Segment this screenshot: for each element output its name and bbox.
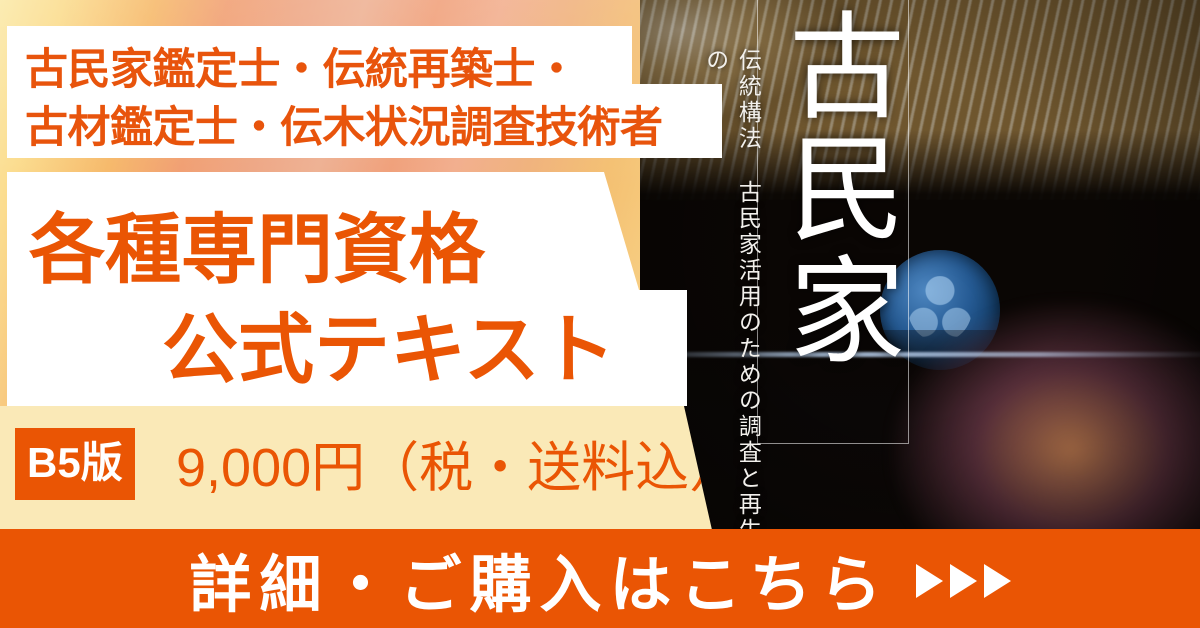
cta-bar[interactable]: 詳細・ご購入はこちら bbox=[0, 529, 1200, 628]
qualifications-line-1: 古民家鑑定士・伝統再築士・ bbox=[25, 35, 578, 97]
triangle-right-icon bbox=[984, 564, 1011, 598]
headline-card: 各種専門資格 公式テキスト bbox=[7, 172, 687, 406]
book-title: 古民家 bbox=[763, 6, 903, 372]
cta-label: 詳細・ご購入はこちら bbox=[189, 534, 889, 624]
headline-line-1: 各種専門資格 bbox=[29, 188, 485, 298]
cta-arrows bbox=[916, 564, 1011, 598]
qualifications-line-2: 古材鑑定士・伝木状況調査技術者 bbox=[25, 93, 663, 155]
book-cover-photo: 古民家 伝統構法 古民家活用のための調査と再生の bbox=[640, 0, 1200, 540]
price-band: B5版 9,000円（税・送料込） bbox=[0, 406, 740, 530]
headline-line-2: 公式テキスト bbox=[162, 288, 616, 398]
triangle-right-icon bbox=[916, 564, 943, 598]
promo-banner: 古民家 伝統構法 古民家活用のための調査と再生の 古民家鑑定士・伝統再築士・ 古… bbox=[0, 0, 1200, 628]
triangle-right-icon bbox=[950, 564, 977, 598]
price-label: 9,000円（税・送料込） bbox=[176, 431, 743, 495]
qualifications-card: 古民家鑑定士・伝統再築士・ 古材鑑定士・伝木状況調査技術者 bbox=[7, 26, 722, 158]
format-badge: B5版 bbox=[15, 428, 135, 500]
